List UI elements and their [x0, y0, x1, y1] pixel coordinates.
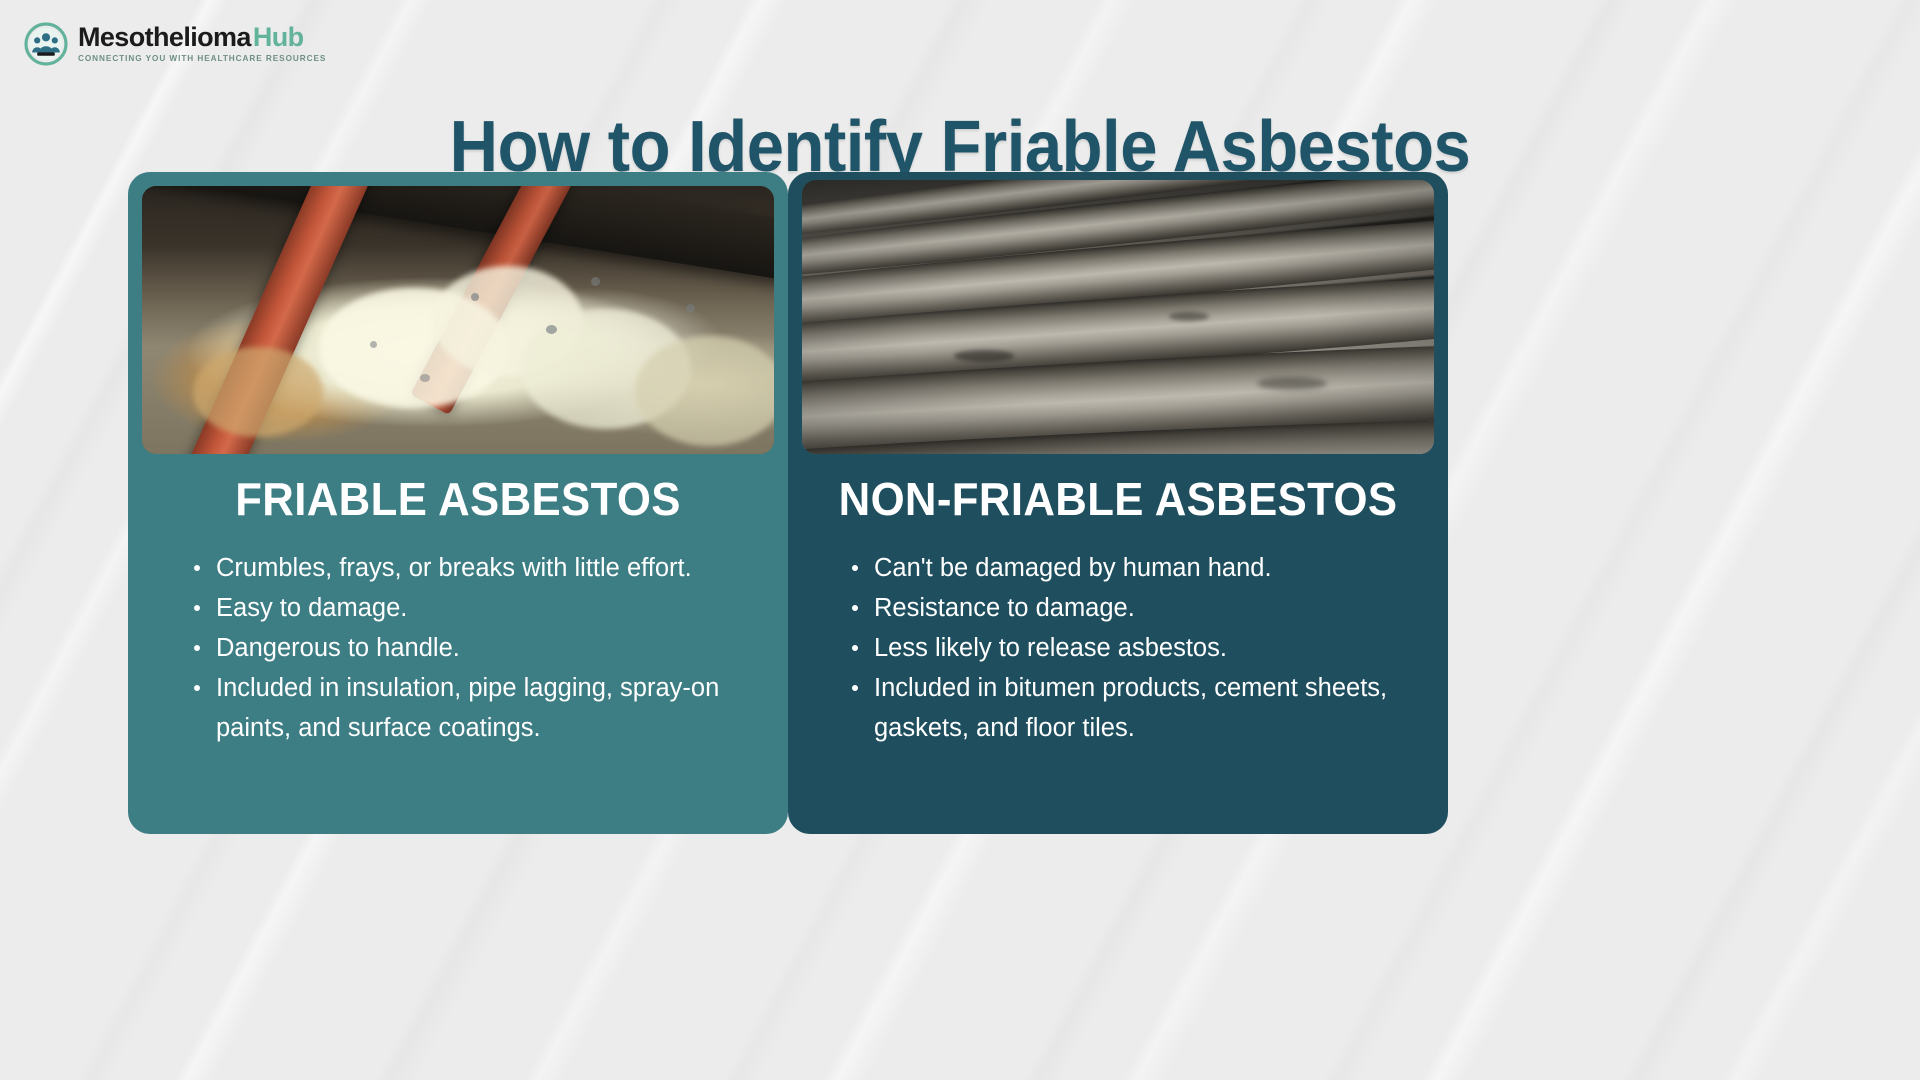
card-heading-non-friable: NON-FRIABLE ASBESTOS — [805, 472, 1432, 526]
list-item: Easy to damage. — [188, 588, 754, 628]
list-item: Less likely to release asbestos. — [846, 628, 1418, 668]
logo-word-main: Mesothelioma — [78, 24, 251, 51]
list-item: Included in bitumen products, cement she… — [846, 668, 1418, 748]
brand-logo[interactable]: Mesothelioma Hub CONNECTING YOU WITH HEA… — [24, 22, 326, 66]
logo-tagline: CONNECTING YOU WITH HEALTHCARE RESOURCES — [78, 55, 326, 63]
logo-wordmark: Mesothelioma Hub — [78, 24, 326, 51]
list-item: Included in insulation, pipe lagging, sp… — [188, 668, 754, 748]
friable-asbestos-photo — [142, 186, 774, 454]
card-bullet-list-friable: Crumbles, frays, or breaks with little e… — [188, 548, 754, 748]
comparison-cards: FRIABLE ASBESTOS Crumbles, frays, or bre… — [128, 172, 1448, 834]
list-item: Resistance to damage. — [846, 588, 1418, 628]
logo-word-accent: Hub — [253, 24, 304, 51]
people-circle-icon — [24, 22, 68, 66]
list-item: Dangerous to handle. — [188, 628, 754, 668]
card-friable-asbestos: FRIABLE ASBESTOS Crumbles, frays, or bre… — [128, 172, 788, 834]
card-heading-friable: FRIABLE ASBESTOS — [145, 472, 772, 526]
list-item: Can't be damaged by human hand. — [846, 548, 1418, 588]
card-bullet-list-non-friable: Can't be damaged by human hand. Resistan… — [846, 548, 1418, 748]
card-non-friable-asbestos: NON-FRIABLE ASBESTOS Can't be damaged by… — [788, 172, 1448, 834]
list-item: Crumbles, frays, or breaks with little e… — [188, 548, 754, 588]
non-friable-asbestos-photo — [802, 180, 1434, 454]
